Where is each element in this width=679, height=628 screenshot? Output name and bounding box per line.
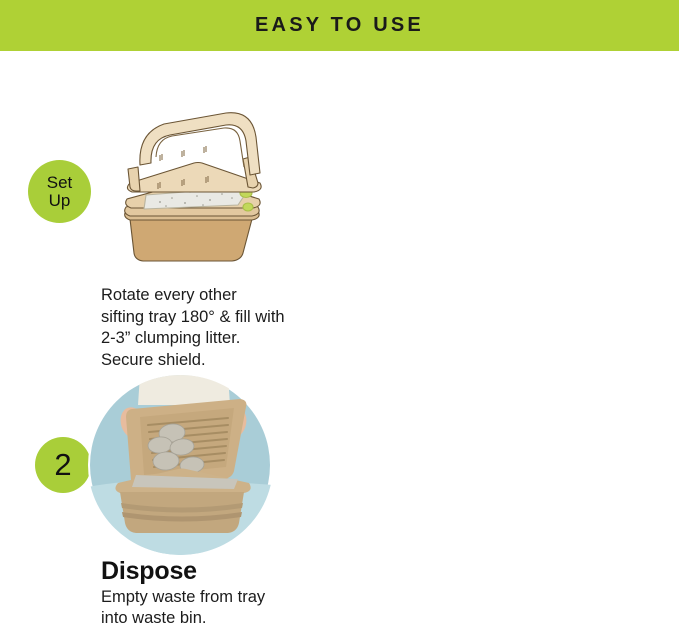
page-title: EASY TO USE	[255, 14, 424, 37]
step-card-2: 2	[0, 361, 340, 628]
badge-label-line2: Up	[49, 192, 71, 209]
badge-number-2: 2	[54, 449, 71, 481]
step-body-2: Empty waste from tray into waste bin.	[101, 587, 333, 628]
step-heading-2: Dispose	[101, 557, 333, 586]
infographic-page: EASY TO USE Set Up	[0, 0, 679, 628]
step-card-3: 3	[340, 361, 679, 628]
steps-grid: Set Up	[0, 51, 679, 628]
step-copy-2: Dispose Empty waste from tray into waste…	[101, 557, 333, 628]
step-copy-setup: Rotate every other sifting tray 180° & f…	[101, 285, 333, 371]
badge-label-line1: Set	[47, 174, 73, 191]
step-body-setup: Rotate every other sifting tray 180° & f…	[101, 285, 333, 371]
step-card-1: 1	[340, 71, 679, 361]
step-badge-2: 2	[35, 437, 91, 493]
header-banner: EASY TO USE	[0, 0, 679, 51]
step-card-setup: Set Up	[0, 71, 340, 361]
illustration-dispose	[88, 375, 273, 555]
illustration-litter-box-line-drawing	[100, 107, 285, 277]
step-badge-setup: Set Up	[28, 160, 91, 223]
photo-circle-2	[88, 375, 273, 555]
